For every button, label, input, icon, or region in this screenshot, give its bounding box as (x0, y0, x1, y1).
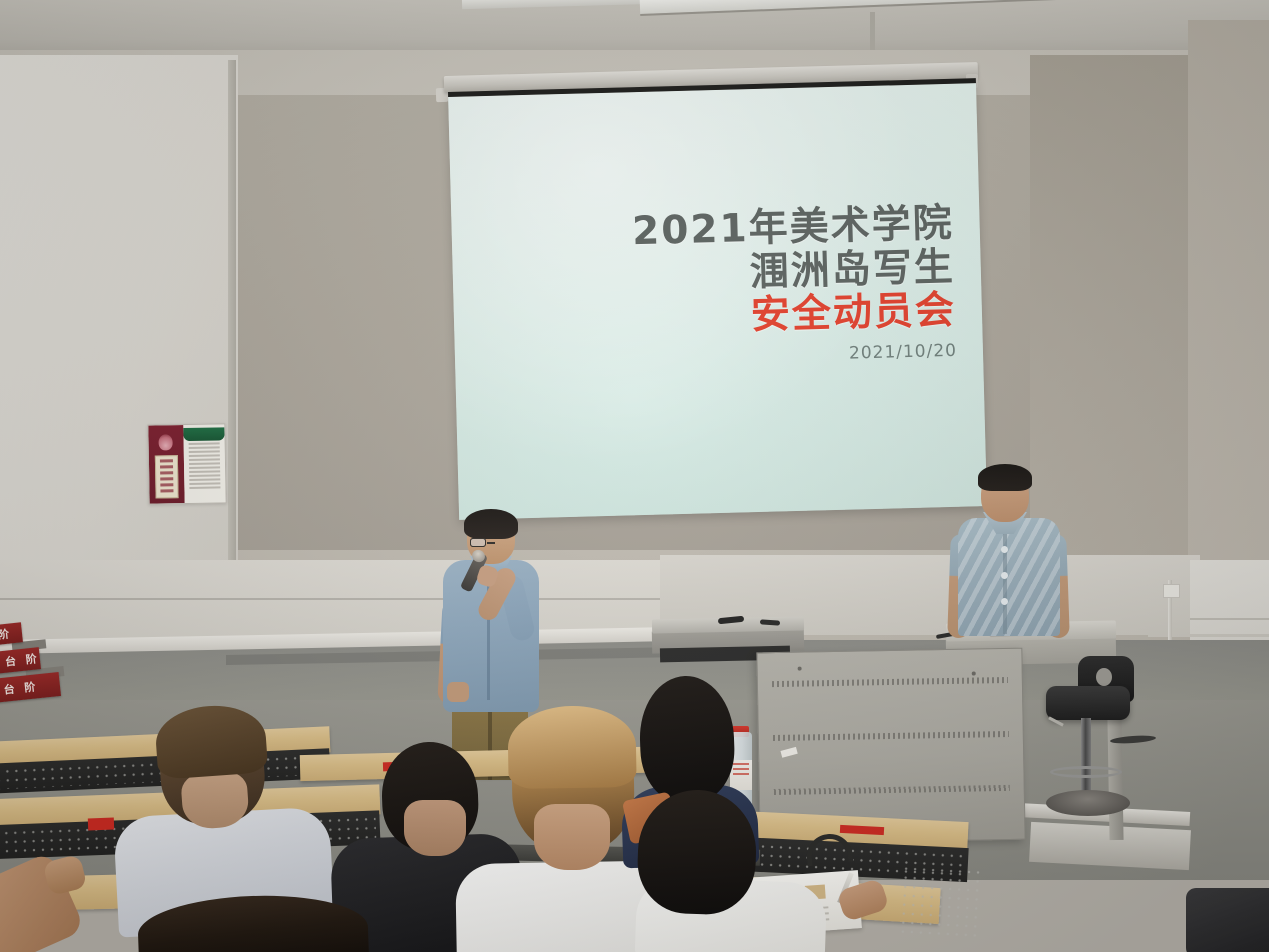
podium-sticker (780, 747, 797, 758)
student-blonde-neck (534, 804, 610, 870)
shirt-button (1001, 546, 1008, 553)
speaker-hair (464, 509, 518, 539)
podium-man-shirt (958, 518, 1060, 636)
eyeglasses-icon (470, 538, 512, 547)
desk-sticker-red (88, 818, 114, 831)
stool-backrest-cutout (1096, 668, 1112, 686)
slide-text-block: 2021年美术学院 涠洲岛写生 安全动员会 2021/10/20 (632, 202, 958, 369)
slide-date: 2021/10/20 (635, 342, 957, 369)
podium-screw-right (972, 672, 976, 676)
student-black-neck (404, 800, 466, 856)
wall-panel-far-right (1188, 20, 1269, 620)
desk-perforation-near-right (898, 864, 982, 938)
poster-card (155, 455, 179, 498)
student-far-right-torso (1186, 888, 1269, 952)
podium-screw-left (798, 667, 802, 671)
stool-base (1046, 790, 1130, 816)
student-blonde-hair-top (507, 705, 636, 789)
shirt-button (1001, 572, 1008, 579)
poster-banner (183, 427, 224, 441)
slide-line-3: 安全动员会 (634, 289, 957, 341)
poster-red-panel (148, 425, 184, 504)
stool-footrest-ring (1050, 766, 1122, 778)
lecture-hall-photo: 2021年美术学院 涠洲岛写生 安全动员会 2021/10/20 (0, 0, 1269, 952)
podium-vent-row-2 (773, 731, 1009, 741)
flame-icon (159, 434, 173, 450)
wall-poster (147, 423, 226, 504)
wall-seam (0, 598, 700, 600)
projection-screen: 2021年美术学院 涠洲岛写生 安全动员会 2021/10/20 (448, 78, 987, 520)
podium-vent-row-3 (774, 785, 1010, 795)
podium-vent-row-1 (772, 677, 1008, 687)
far-right-wall-seam (1190, 618, 1269, 620)
poster-green-panel (183, 424, 225, 503)
shirt-button (1001, 598, 1008, 605)
stool-post (1081, 718, 1091, 796)
speaker-hand-in-pocket (447, 682, 469, 702)
podium-man-hair (978, 464, 1032, 491)
bar-stool-seat[interactable] (1046, 686, 1130, 720)
wall-crossbar (1148, 634, 1269, 637)
bottle-label (730, 760, 752, 790)
step-riser-1: 阶 (0, 622, 23, 645)
light-switch[interactable] (1163, 584, 1180, 598)
